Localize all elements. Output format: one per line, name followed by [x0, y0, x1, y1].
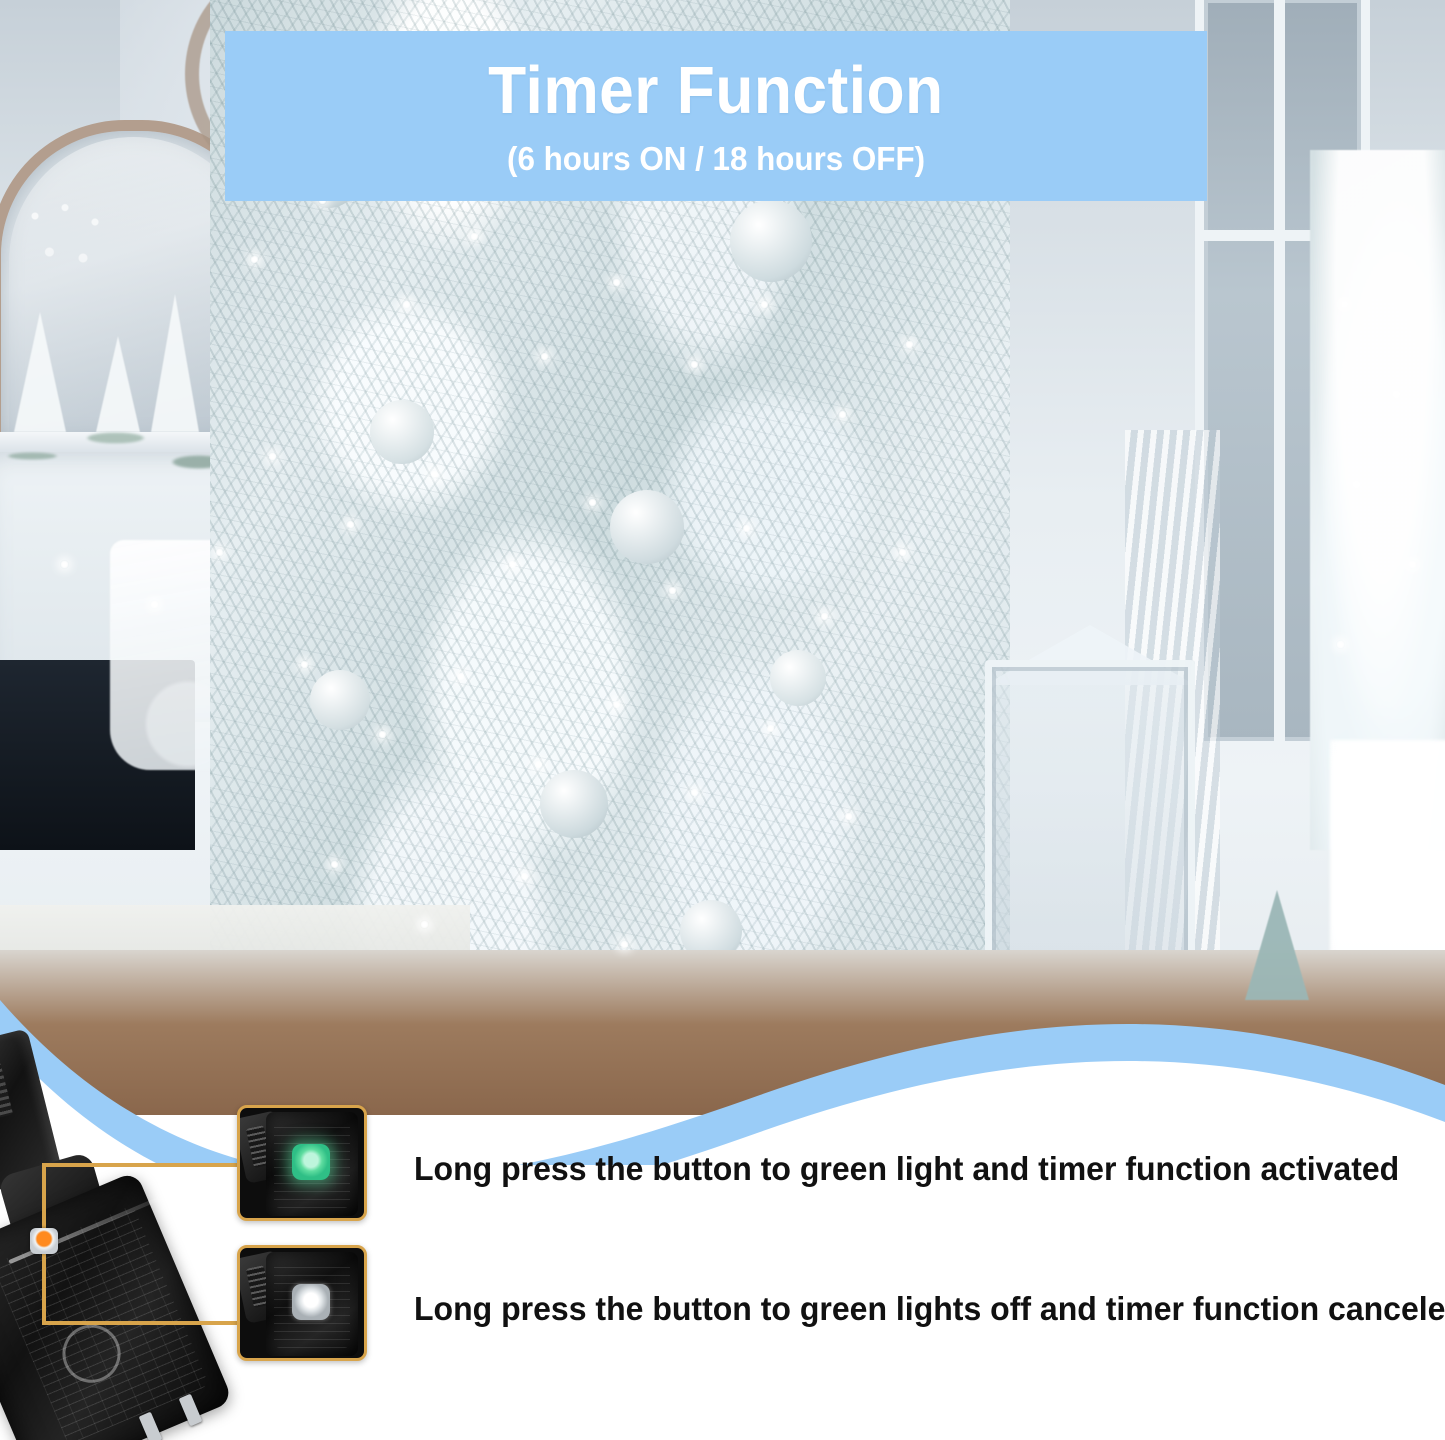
connector-bracket-lower	[44, 1225, 240, 1323]
chandelier-reflection	[11, 186, 131, 306]
callout-button-on	[237, 1105, 367, 1221]
window-mullion	[1274, 0, 1285, 750]
instruction-text-canceled: Long press the button to green lights of…	[414, 1292, 1445, 1325]
callout-button-off	[237, 1245, 367, 1361]
decorative-lantern	[985, 660, 1195, 990]
page-subtitle: (6 hours ON / 18 hours OFF)	[507, 142, 925, 175]
ornament	[610, 490, 684, 564]
page-title: Timer Function	[488, 57, 943, 124]
connector-bracket-upper	[44, 1165, 240, 1225]
infographic-page: Timer Function (6 hours ON / 18 hours OF…	[0, 0, 1445, 1440]
ornament	[770, 650, 826, 706]
green-indicator-light	[292, 1144, 330, 1180]
header-banner: Timer Function (6 hours ON / 18 hours OF…	[225, 31, 1207, 201]
indicator-light-off	[292, 1284, 330, 1320]
timer-button-marker[interactable]	[30, 1228, 58, 1254]
ornament	[370, 400, 434, 464]
floor-mini-tree	[1245, 890, 1309, 1000]
ornament	[540, 770, 608, 838]
instruction-text-activated: Long press the button to green light and…	[414, 1152, 1399, 1185]
callout-connector-lines	[0, 1035, 420, 1440]
ornament	[730, 200, 812, 282]
ornament	[310, 670, 370, 730]
